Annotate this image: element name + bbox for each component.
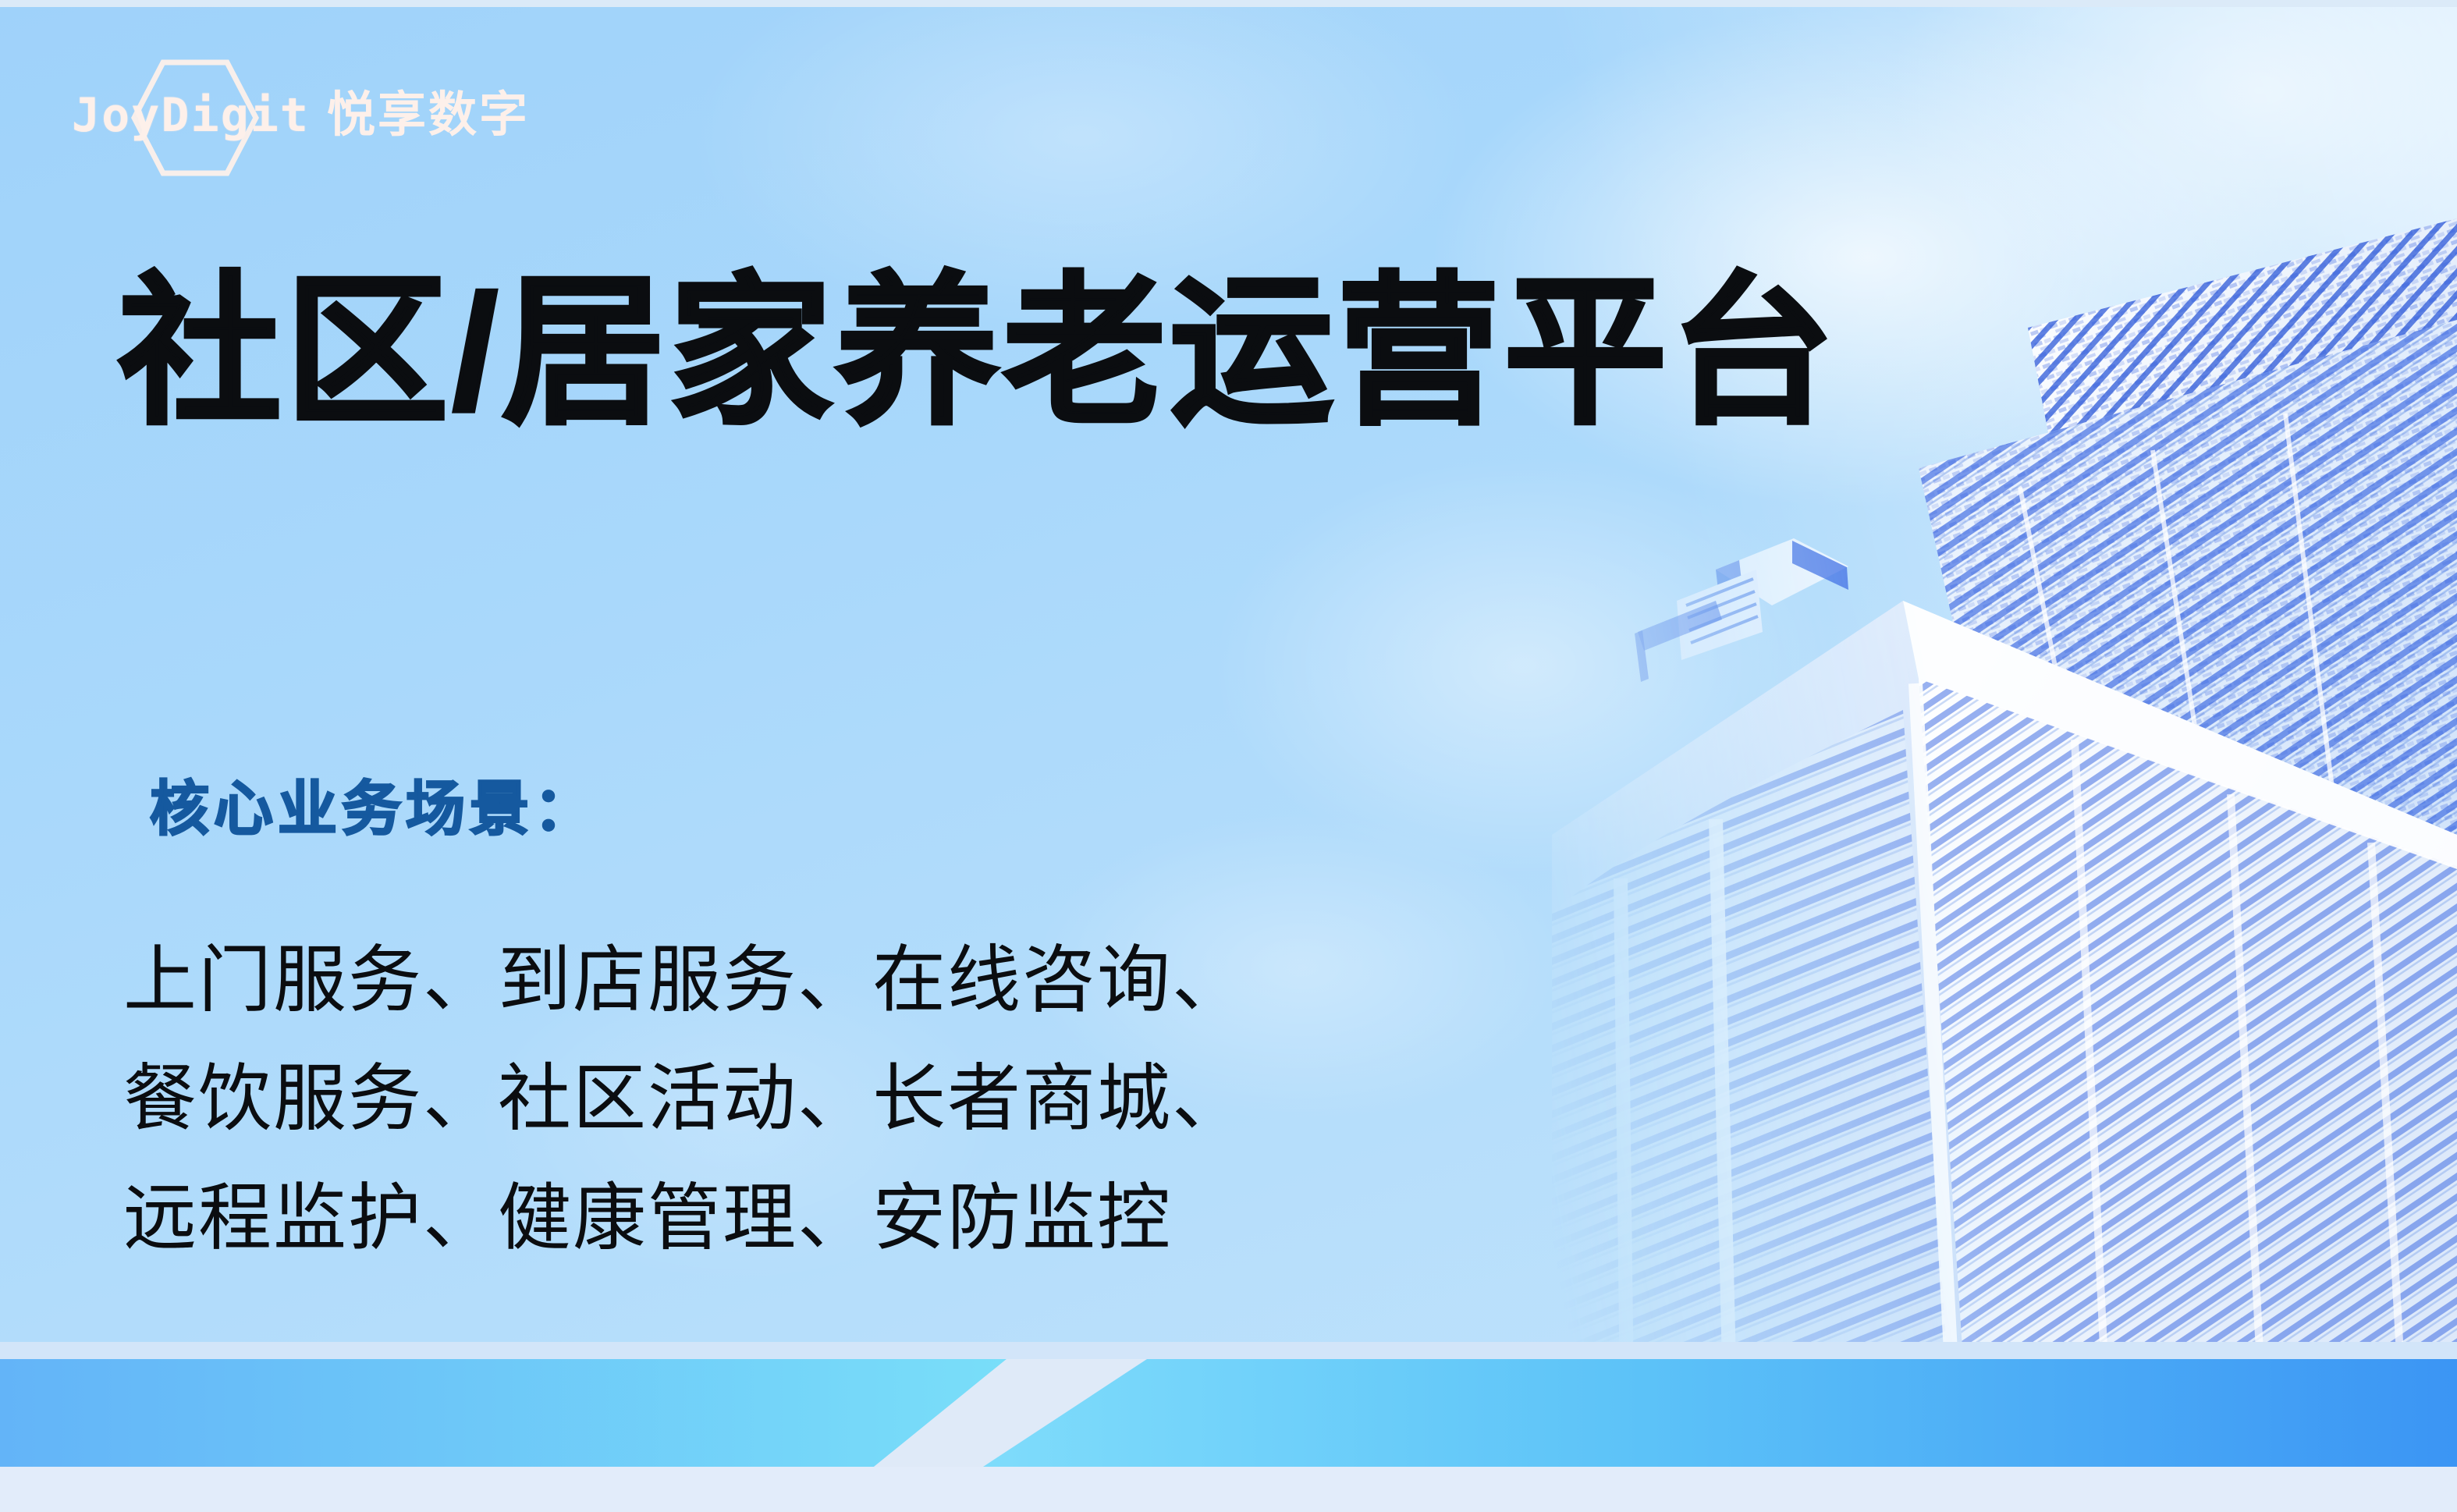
slide-root: JoyDigit 悦享数字 社区/居家养老运营平台 核心业务场景： 上门服务、到… [0, 0, 2457, 1512]
top-edge-strip [0, 0, 2457, 7]
scenario-line: 上门服务、到店服务、在线咨询、 [123, 921, 1247, 1039]
scenario-line: 餐饮服务、社区活动、长者商城、 [123, 1039, 1247, 1158]
logo-wordmark-en: JoyDigit [72, 92, 310, 139]
scenario-line: 远程监护、健康管理、安防监控 [123, 1159, 1247, 1277]
logo-wordmark-cn: 悦享数字 [327, 91, 530, 140]
bottom-decorative-banner [0, 1342, 2457, 1512]
page-title: 社区/居家养老运营平台 [119, 257, 1838, 449]
core-scenarios-list: 上门服务、到店服务、在线咨询、 餐饮服务、社区活动、长者商城、 远程监护、健康管… [123, 921, 1247, 1277]
core-scenarios-heading: 核心业务场景： [150, 780, 598, 839]
brand-logo[interactable]: JoyDigit 悦享数字 [72, 69, 530, 162]
